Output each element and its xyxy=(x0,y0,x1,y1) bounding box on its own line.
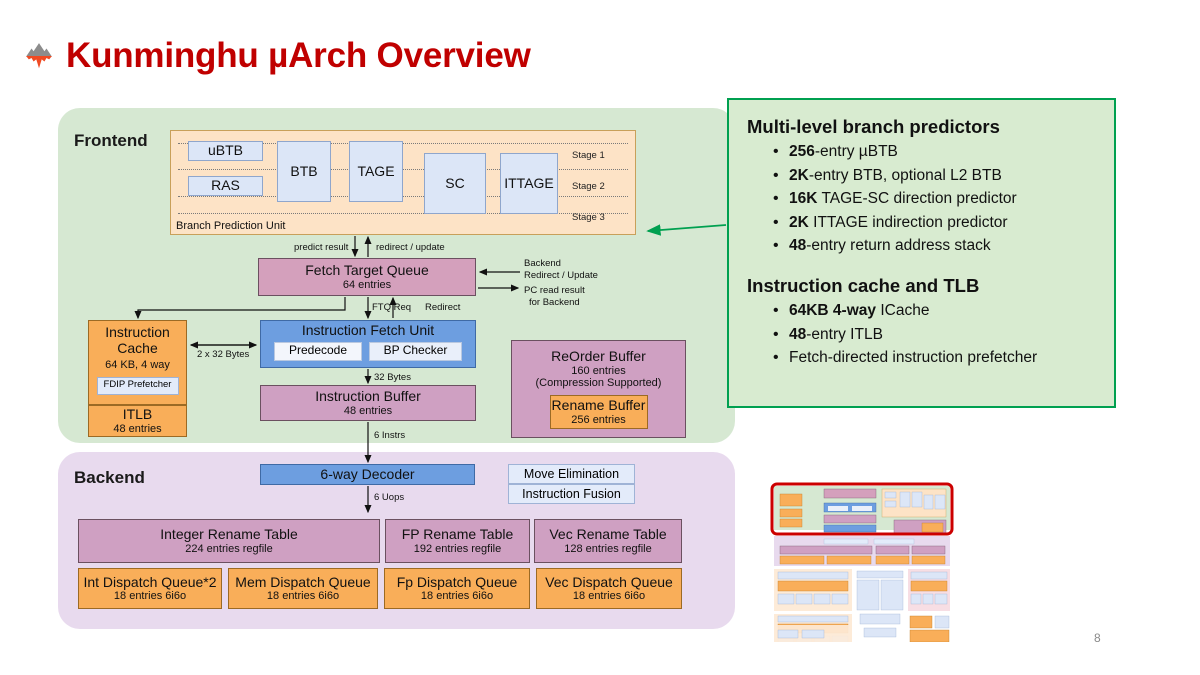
callout-bullet: 16K TAGE-SC direction predictor xyxy=(773,189,1100,210)
decoder[interactable]: 6-way Decoder xyxy=(260,464,475,485)
fdip-prefetcher[interactable]: FDIP Prefetcher xyxy=(97,377,179,395)
fp-dispatch-queue[interactable]: Fp Dispatch Queue 18 entries 6i6o xyxy=(384,568,530,609)
backend-label: Backend xyxy=(74,468,145,488)
frontend-label: Frontend xyxy=(74,131,148,151)
callout-list-2: 64KB 4-way ICache 48-entry ITLB Fetch-di… xyxy=(747,301,1100,369)
stage-2-label: Stage 2 xyxy=(572,181,605,192)
predictor-ras[interactable]: RAS xyxy=(188,176,263,196)
label-6-uops: 6 Uops xyxy=(374,492,404,503)
instruction-fusion[interactable]: Instruction Fusion xyxy=(508,484,635,504)
int-dispatch-queue[interactable]: Int Dispatch Queue*2 18 entries 6i6o xyxy=(78,568,222,609)
callout-bullet: Fetch-directed instruction prefetcher xyxy=(773,348,1100,369)
label-2x32-bytes: 2 x 32 Bytes xyxy=(197,349,249,360)
label-ftq-req: FTQ Req xyxy=(372,302,411,313)
callout-bullet: 256-entry µBTB xyxy=(773,142,1100,163)
predictor-btb[interactable]: BTB xyxy=(277,141,331,202)
label-redirect-update: redirect / update xyxy=(376,242,445,253)
integer-rename-table[interactable]: Integer Rename Table 224 entries regfile xyxy=(78,519,380,563)
move-elimination[interactable]: Move Elimination xyxy=(508,464,635,484)
slide-title-row: Kunminghu µArch Overview xyxy=(22,36,531,76)
callout-box: Multi-level branch predictors 256-entry … xyxy=(727,98,1116,408)
label-pc-read-2: for Backend xyxy=(529,297,580,308)
label-backend-redirect-2: Redirect / Update xyxy=(524,270,598,281)
vec-rename-table[interactable]: Vec Rename Table 128 entries regfile xyxy=(534,519,682,563)
vec-dispatch-queue[interactable]: Vec Dispatch Queue 18 entries 6i6o xyxy=(536,568,682,609)
rename-buffer[interactable]: Rename Buffer 256 entries xyxy=(550,395,648,429)
mountain-logo-icon xyxy=(22,39,56,73)
label-6-instrs: 6 Instrs xyxy=(374,430,405,441)
page-number: 8 xyxy=(1094,631,1101,645)
label-32-bytes: 32 Bytes xyxy=(374,372,411,383)
label-predict-result: predict result xyxy=(294,242,348,253)
instruction-buffer[interactable]: Instruction Buffer 48 entries xyxy=(260,385,476,421)
predictor-ubtb[interactable]: uBTB xyxy=(188,141,263,161)
predecode-block[interactable]: Predecode xyxy=(274,342,362,361)
callout-heading-2: Instruction cache and TLB xyxy=(747,275,1100,297)
bpu-divider-4 xyxy=(178,213,628,214)
instruction-cache[interactable]: Instruction Cache 64 KB, 4 way FDIP Pref… xyxy=(88,320,187,405)
stage-3-label: Stage 3 xyxy=(572,212,605,223)
stage-1-label: Stage 1 xyxy=(572,150,605,161)
bpu-label: Branch Prediction Unit xyxy=(176,220,285,232)
predictor-tage[interactable]: TAGE xyxy=(349,141,403,202)
callout-bullet: 64KB 4-way ICache xyxy=(773,301,1100,322)
label-backend-redirect-1: Backend xyxy=(524,258,561,269)
bp-checker-block[interactable]: BP Checker xyxy=(369,342,462,361)
callout-bullet: 2K-entry BTB, optional L2 BTB xyxy=(773,166,1100,187)
fetch-target-queue[interactable]: Fetch Target Queue 64 entries xyxy=(258,258,476,296)
slide-root: Kunminghu µArch Overview Frontend uBTB R… xyxy=(0,0,1200,675)
label-pc-read-1: PC read result xyxy=(524,285,585,296)
callout-bullet: 48-entry return address stack xyxy=(773,236,1100,257)
mem-dispatch-queue[interactable]: Mem Dispatch Queue 18 entries 6i6o xyxy=(228,568,378,609)
full-architecture-thumbnail[interactable] xyxy=(764,478,960,642)
callout-list-1: 256-entry µBTB 2K-entry BTB, optional L2… xyxy=(747,142,1100,257)
callout-heading-1: Multi-level branch predictors xyxy=(747,116,1100,138)
page-title: Kunminghu µArch Overview xyxy=(66,36,531,76)
callout-bullet: 2K ITTAGE indirection predictor xyxy=(773,213,1100,234)
bpu-divider-3 xyxy=(178,196,628,197)
label-redirect: Redirect xyxy=(425,302,460,313)
itlb[interactable]: ITLB 48 entries xyxy=(88,405,187,437)
predictor-ittage[interactable]: ITTAGE xyxy=(500,153,558,214)
callout-bullet: 48-entry ITLB xyxy=(773,325,1100,346)
bpu-divider-2 xyxy=(178,169,628,170)
instruction-fetch-unit[interactable]: Instruction Fetch Unit Predecode BP Chec… xyxy=(260,320,476,368)
fp-rename-table[interactable]: FP Rename Table 192 entries regfile xyxy=(385,519,530,563)
predictor-sc[interactable]: SC xyxy=(424,153,486,214)
reorder-buffer[interactable]: ReOrder Buffer 160 entries (Compression … xyxy=(511,340,686,438)
